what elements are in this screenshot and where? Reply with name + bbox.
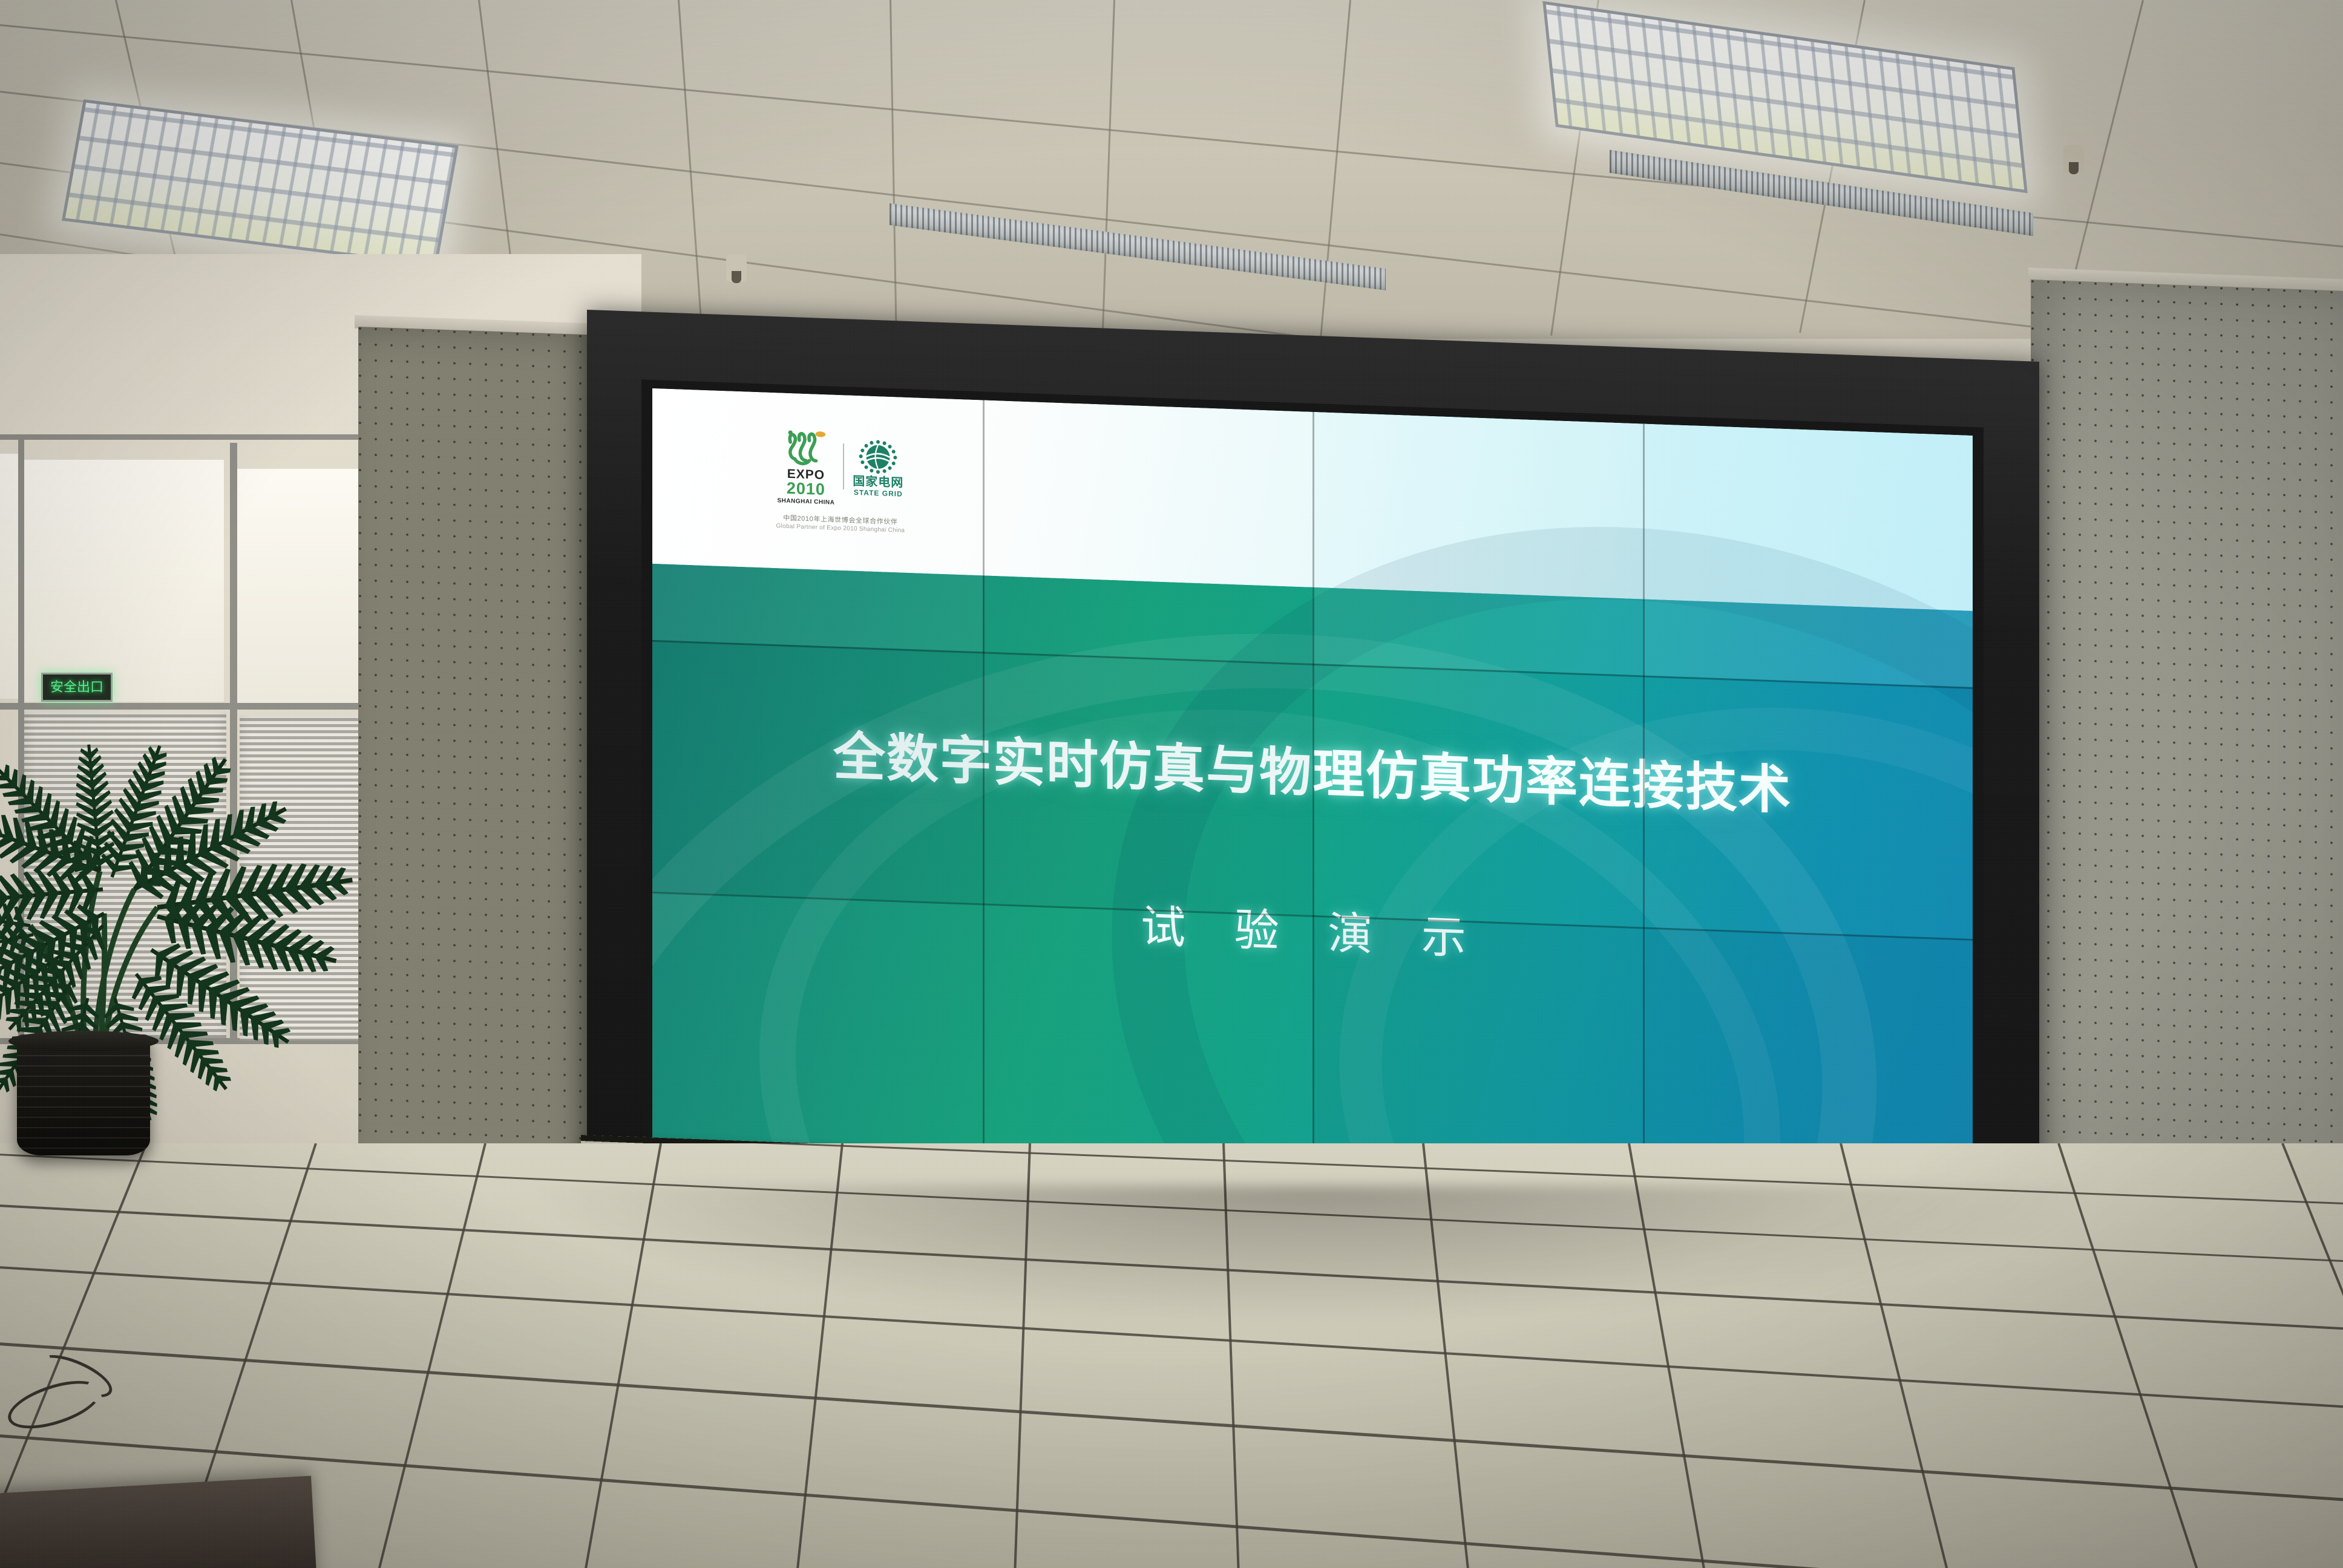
room-scene: 安全出口	[0, 0, 2343, 1568]
state-grid-name-cn: 国家电网	[853, 475, 903, 490]
ceiling-light-left	[62, 99, 459, 267]
panel-seam-v	[1643, 423, 1645, 1178]
decorative-arc	[652, 531, 1970, 1191]
expo-city: SHANGHAI CHINA	[778, 498, 835, 506]
expo-year: 2010	[787, 480, 825, 498]
slide-logo-block: EXPO 2010 SHANGHAI CHINA	[679, 413, 1003, 553]
state-grid-logo: 国家电网 STATE GRID	[853, 438, 903, 498]
state-grid-emblem-icon	[856, 438, 900, 477]
air-diffuser-center	[890, 203, 1386, 290]
video-wall[interactable]: EXPO 2010 SHANGHAI CHINA	[652, 388, 1973, 1191]
presentation-slide: EXPO 2010 SHANGHAI CHINA	[652, 388, 1973, 1191]
potted-palm	[0, 587, 363, 1192]
expo-emblem-icon	[778, 425, 834, 471]
smoke-detector	[2063, 145, 2084, 173]
wall-base-shadow	[545, 1186, 2088, 1319]
expo-logo: EXPO 2010 SHANGHAI CHINA	[778, 425, 835, 506]
planter-pot	[17, 1034, 150, 1155]
acoustic-panel-right	[2031, 279, 2343, 1235]
state-grid-name-en: STATE GRID	[854, 489, 903, 498]
acoustic-panel-left	[358, 327, 603, 1267]
sprinkler-head	[726, 254, 747, 282]
panel-seam-v	[1312, 412, 1314, 1167]
logo-divider	[843, 444, 844, 490]
panel-seam-v	[983, 400, 985, 1155]
